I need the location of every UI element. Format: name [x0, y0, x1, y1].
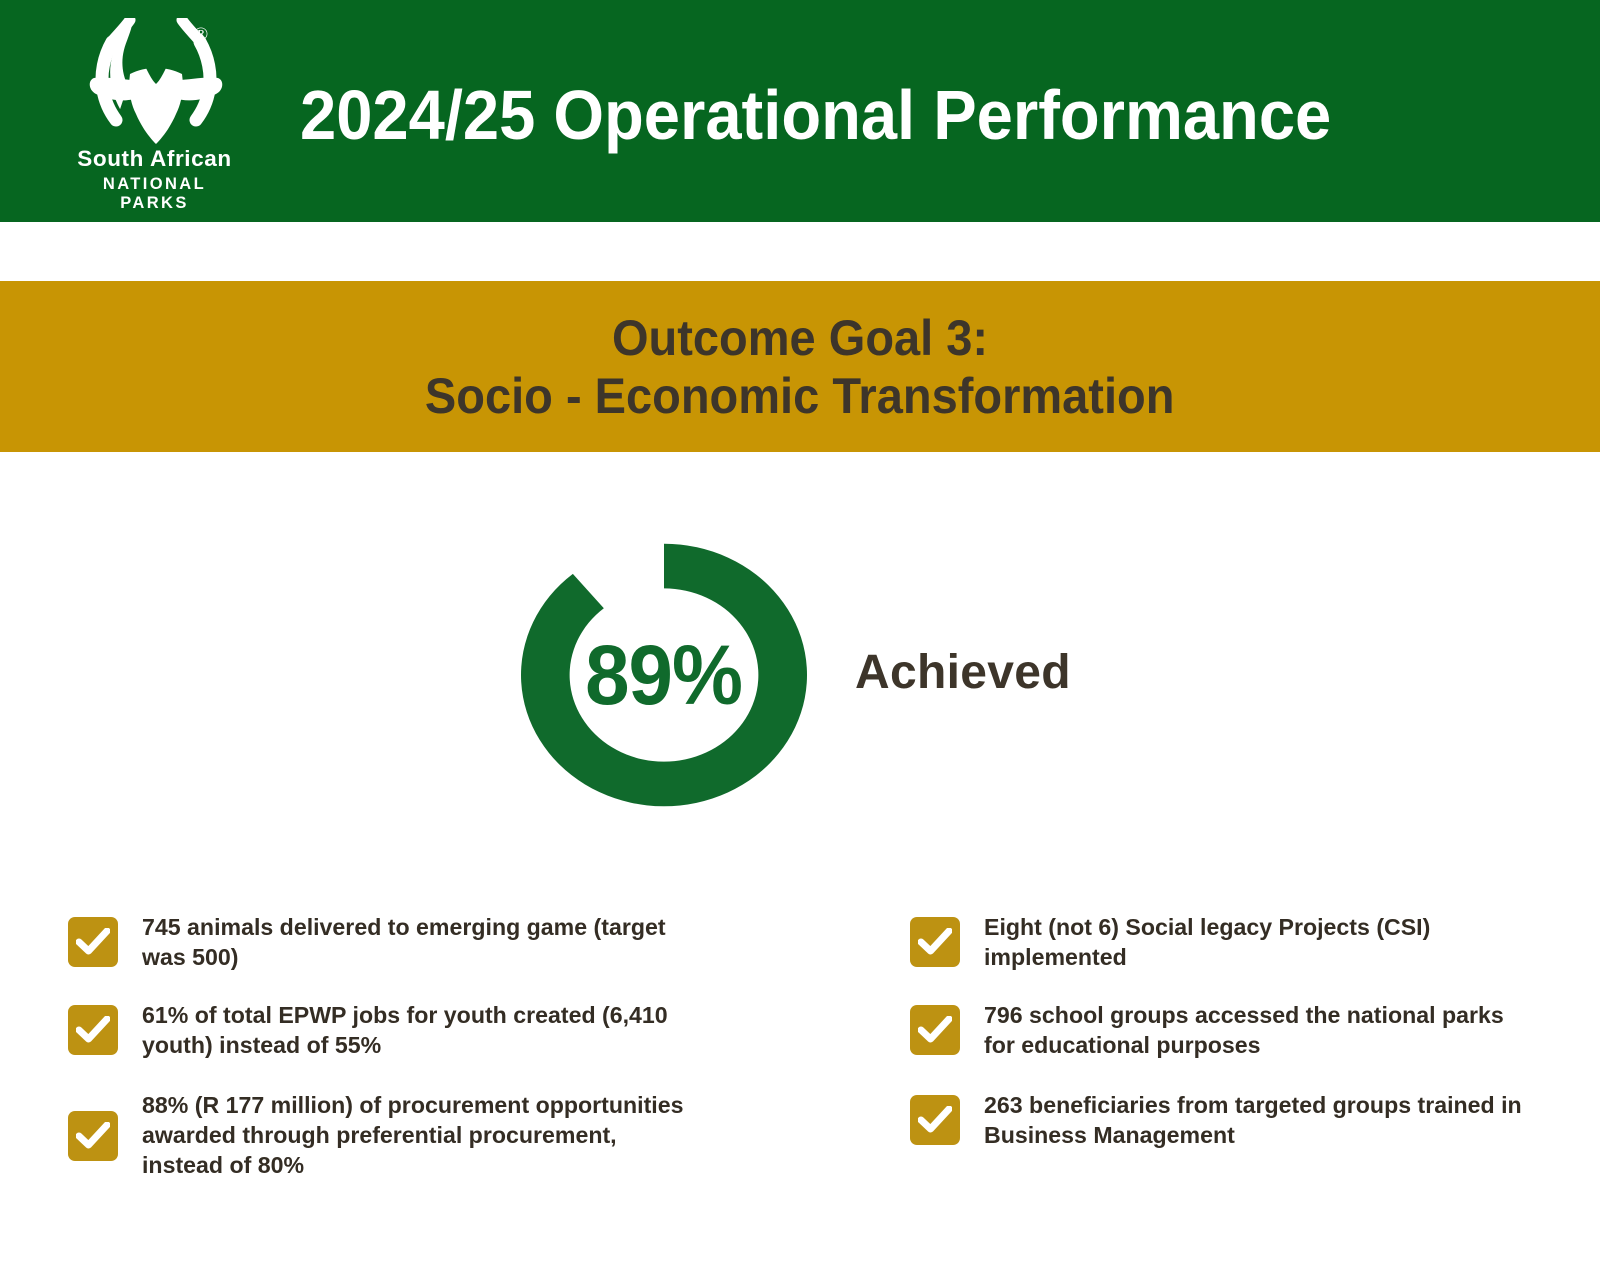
registered-trademark-icon: ® [190, 24, 212, 46]
list-item: 263 beneficiaries from targeted groups t… [910, 1089, 1540, 1150]
achievements-left-column: 745 animals delivered to emerging game (… [0, 895, 800, 1195]
list-item: Eight (not 6) Social legacy Projects (CS… [910, 911, 1540, 972]
list-item: 745 animals delivered to emerging game (… [68, 911, 708, 972]
performance-summary: 89% Achieved [0, 495, 1600, 855]
list-item: 88% (R 177 million) of procurement oppor… [68, 1089, 708, 1180]
goal-band-line2: Socio - Economic Transformation [425, 367, 1175, 425]
check-icon [910, 1095, 960, 1145]
goal-band-line1: Outcome Goal 3: [612, 309, 988, 367]
achieved-status-label: Achieved [855, 645, 1071, 700]
list-item-text: 796 school groups accessed the national … [984, 999, 1532, 1060]
list-item-text: 263 beneficiaries from targeted groups t… [984, 1089, 1532, 1150]
list-item: 61% of total EPWP jobs for youth created… [68, 999, 708, 1060]
check-icon [910, 1005, 960, 1055]
header-band: ® South African NATIONAL PARKS 2024/25 O… [0, 0, 1600, 222]
slide-root: ® South African NATIONAL PARKS 2024/25 O… [0, 0, 1600, 1280]
logo-wordmark-line2: NATIONAL PARKS [72, 175, 237, 213]
achievement-donut-chart: 89% [495, 520, 833, 830]
list-item-text: 745 animals delivered to emerging game (… [142, 911, 700, 972]
achievements-section: 745 animals delivered to emerging game (… [0, 895, 1600, 1195]
list-item: 796 school groups accessed the national … [910, 999, 1540, 1060]
logo-wordmark-line1: South African [72, 146, 237, 172]
list-item-text: Eight (not 6) Social legacy Projects (CS… [984, 911, 1532, 972]
list-item-text: 61% of total EPWP jobs for youth created… [142, 999, 700, 1060]
check-icon [68, 1005, 118, 1055]
achievements-right-column: Eight (not 6) Social legacy Projects (CS… [800, 895, 1600, 1195]
check-icon [68, 917, 118, 967]
outcome-goal-band: Outcome Goal 3: Socio - Economic Transfo… [0, 281, 1600, 452]
list-item-text: 88% (R 177 million) of procurement oppor… [142, 1089, 700, 1180]
page-title: 2024/25 Operational Performance [300, 76, 1463, 154]
sanparks-logo: ® South African NATIONAL PARKS [72, 18, 237, 198]
check-icon [910, 917, 960, 967]
check-icon [68, 1111, 118, 1161]
